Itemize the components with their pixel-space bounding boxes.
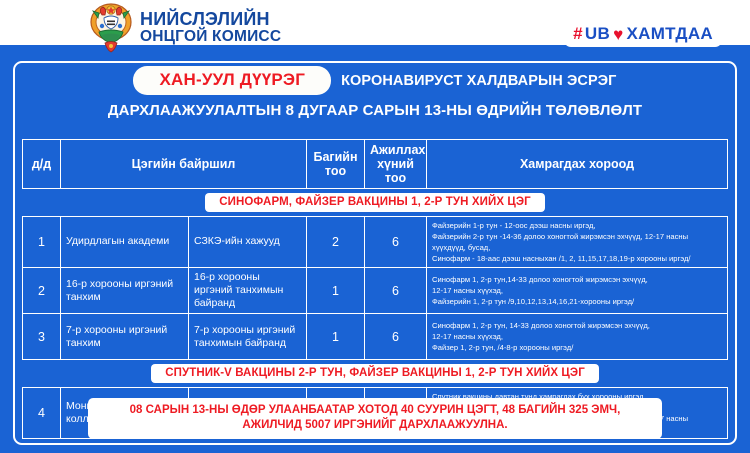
org-name-line1: НИЙСЛЭЛИЙН <box>140 10 281 29</box>
section-banner-row: СПУТНИК-V ВАКЦИНЫ 2-Р ТУН, ФАЙЗЕР ВАКЦИН… <box>23 360 728 388</box>
column-header-staff: Ажиллах хүний тоо <box>365 140 427 189</box>
row-khoroo-details: Синофарм 1, 2-р тун,14-33 долоо хоногтой… <box>427 268 728 314</box>
row-index: 3 <box>23 314 61 360</box>
row-khoroo-details: Файзерийн 1-р тун - 12-оос дээш насны ир… <box>427 217 728 268</box>
hashtag-tail-text: ХАМТДАА <box>626 24 713 44</box>
table-row: 2 16-р хорооны иргэний танхим 16-р хороо… <box>23 268 728 314</box>
hashtag-ub-text: UB <box>585 24 610 44</box>
organization-logo-block: НИЙСЛЭЛИЙН ОНЦГОЙ КОМИСС <box>88 2 281 54</box>
row-index: 1 <box>23 217 61 268</box>
section-banner-cell: СИНОФАРМ, ФАЙЗЕР ВАКЦИНЫ 1, 2-Р ТУН ХИЙХ… <box>23 189 728 217</box>
row-teams-count: 1 <box>307 268 365 314</box>
detail-line: Файзерийн 1, 2-р тун /9,10,12,13,14,16,2… <box>432 296 722 307</box>
detail-line: Синофарм - 18-аас дээш насныхан /1, 2, 1… <box>432 253 722 264</box>
table-header: д/д Цэгийн байршил Багийн тоо Ажиллах хү… <box>23 140 728 189</box>
detail-line: Файзерийн 1-р тун - 12-оос дээш насны ир… <box>432 220 722 231</box>
column-header-index: д/д <box>23 140 61 189</box>
page-header: НИЙСЛЭЛИЙН ОНЦГОЙ КОМИСС # UB ♥ ХАМТДАА <box>0 0 750 56</box>
footer-line1: 08 САРЫН 13-НЫ ӨДӨР УЛААНБААТАР ХОТОД 40… <box>96 403 654 418</box>
hash-symbol: # <box>573 24 583 44</box>
district-name-badge: ХАН-УУЛ ДҮҮРЭГ <box>133 66 331 95</box>
footer-line2: АЖИЛЧИД 5007 ИРГЭНИЙГ ДАРХЛААЖУУЛНА. <box>96 418 654 433</box>
poster-title: ХАН-УУЛ ДҮҮРЭГ КОРОНАВИРУСТ ХАЛДВАРЫН ЭС… <box>15 66 735 119</box>
table-header-row: д/д Цэгийн байршил Багийн тоо Ажиллах хү… <box>23 140 728 189</box>
detail-line: хүүхдүүд, бусад, <box>432 242 722 253</box>
org-name-line2: ОНЦГОЙ КОМИСС <box>140 29 281 45</box>
row-location: Удирдлагын академи <box>61 217 189 268</box>
row-address: 7-р хорооны иргэний танхимын байранд <box>189 314 307 360</box>
hashtag-badge: # UB ♥ ХАМТДАА <box>564 22 722 47</box>
heart-icon: ♥ <box>613 26 623 43</box>
title-line1-text: КОРОНАВИРУСТ ХАЛДВАРЫН ЭСРЭГ <box>341 73 616 89</box>
detail-line: Файзер 1, 2-р тун, /4-8-р хорооны иргэд/ <box>432 342 722 353</box>
ulaanbaatar-emblem-icon <box>88 2 134 54</box>
section-banner-row: СИНОФАРМ, ФАЙЗЕР ВАКЦИНЫ 1, 2-Р ТУН ХИЙХ… <box>23 189 728 217</box>
row-address: 16-р хорооны иргэний танхимын байранд <box>189 268 307 314</box>
detail-line: Синофарм 1, 2-р тун,14-33 долоо хоногтой… <box>432 274 722 285</box>
row-address: СЗКЭ-ийн хажууд <box>189 217 307 268</box>
organization-name: НИЙСЛЭЛИЙН ОНЦГОЙ КОМИСС <box>140 10 281 45</box>
vaccination-schedule-table: д/д Цэгийн байршил Багийн тоо Ажиллах хү… <box>22 139 728 439</box>
section-banner-label: СПУТНИК-V ВАКЦИНЫ 2-Р ТУН, ФАЙЗЕР ВАКЦИН… <box>151 364 599 383</box>
column-header-location: Цэгийн байршил <box>61 140 307 189</box>
title-first-line: ХАН-УУЛ ДҮҮРЭГ КОРОНАВИРУСТ ХАЛДВАРЫН ЭС… <box>15 66 735 95</box>
table-row: 1 Удирдлагын академи СЗКЭ-ийн хажууд 2 6… <box>23 217 728 268</box>
row-location: 7-р хорооны иргэний танхим <box>61 314 189 360</box>
detail-line: Файзерийн 2-р тун -14-36 долоо хоногтой … <box>432 231 722 242</box>
footer-summary-banner: 08 САРЫН 13-НЫ ӨДӨР УЛААНБААТАР ХОТОД 40… <box>88 398 662 439</box>
title-second-line: ДАРХЛААЖУУЛАЛТЫН 8 ДУГААР САРЫН 13-НЫ ӨД… <box>15 102 735 119</box>
row-index: 4 <box>23 388 61 439</box>
detail-line: Синофарм 1, 2-р тун, 14-33 долоо хоногто… <box>432 320 722 331</box>
section-banner-cell: СПУТНИК-V ВАКЦИНЫ 2-Р ТУН, ФАЙЗЕР ВАКЦИН… <box>23 360 728 388</box>
row-location: 16-р хорооны иргэний танхим <box>61 268 189 314</box>
row-staff-count: 6 <box>365 217 427 268</box>
row-teams-count: 1 <box>307 314 365 360</box>
row-staff-count: 6 <box>365 268 427 314</box>
row-index: 2 <box>23 268 61 314</box>
section-banner-label: СИНОФАРМ, ФАЙЗЕР ВАКЦИНЫ 1, 2-Р ТУН ХИЙХ… <box>205 193 545 212</box>
poster-body: ХАН-УУЛ ДҮҮРЭГ КОРОНАВИРУСТ ХАЛДВАРЫН ЭС… <box>0 56 750 453</box>
detail-line: 12-17 насны хүүхэд, <box>432 331 722 342</box>
row-khoroo-details: Синофарм 1, 2-р тун, 14-33 долоо хоногто… <box>427 314 728 360</box>
table-row: 3 7-р хорооны иргэний танхим 7-р хорооны… <box>23 314 728 360</box>
row-teams-count: 2 <box>307 217 365 268</box>
column-header-khoroos: Хамрагдах хороод <box>427 140 728 189</box>
row-staff-count: 6 <box>365 314 427 360</box>
column-header-teams: Багийн тоо <box>307 140 365 189</box>
detail-line: 12-17 насны хүүхэд, <box>432 285 722 296</box>
